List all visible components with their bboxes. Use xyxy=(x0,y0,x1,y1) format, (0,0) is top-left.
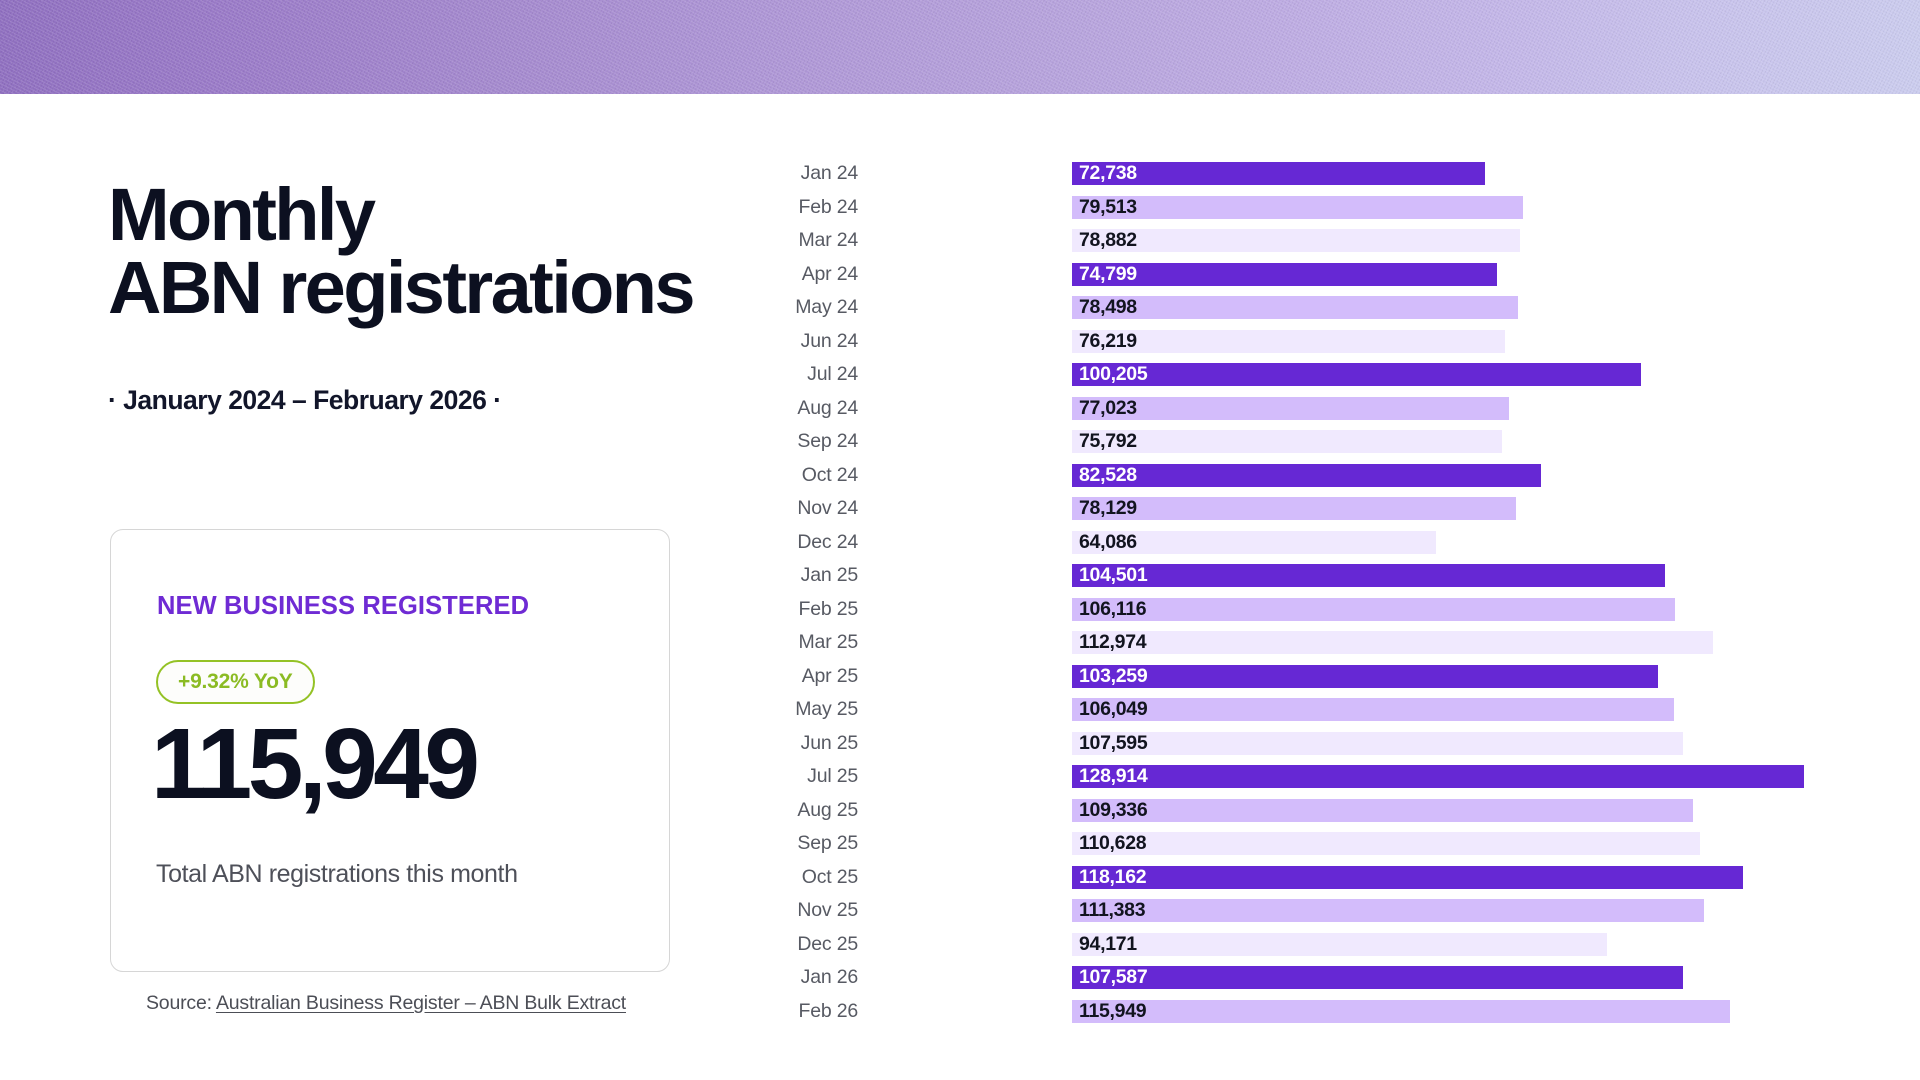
bar-row: Jul 24100,205 xyxy=(0,361,1920,388)
bar-category-label: Jun 24 xyxy=(801,328,858,355)
bar-fill: 107,587 xyxy=(1072,966,1683,989)
bar-category-label: Sep 24 xyxy=(797,428,858,455)
bar-value-label: 94,171 xyxy=(1072,933,1137,956)
bar-track: 110,628 xyxy=(1072,832,1700,855)
bar-track: 64,086 xyxy=(1072,531,1436,554)
bar-row: Jan 26107,587 xyxy=(0,964,1920,991)
bar-row: Jul 25128,914 xyxy=(0,763,1920,790)
bar-fill: 75,792 xyxy=(1072,430,1502,453)
bar-row: Jun 2476,219 xyxy=(0,328,1920,355)
bar-row: Apr 2474,799 xyxy=(0,261,1920,288)
bar-value-label: 107,587 xyxy=(1072,966,1147,989)
bar-value-label: 78,498 xyxy=(1072,296,1137,319)
bar-track: 118,162 xyxy=(1072,866,1743,889)
bar-category-label: Dec 25 xyxy=(797,931,858,958)
bar-value-label: 76,219 xyxy=(1072,330,1137,353)
bar-category-label: Feb 25 xyxy=(798,596,858,623)
bar-fill: 110,628 xyxy=(1072,832,1700,855)
bar-track: 82,528 xyxy=(1072,464,1541,487)
bar-fill: 100,205 xyxy=(1072,363,1641,386)
bar-value-label: 111,383 xyxy=(1072,899,1145,922)
bar-fill: 77,023 xyxy=(1072,397,1509,420)
bar-category-label: Mar 24 xyxy=(799,227,859,254)
bar-track: 128,914 xyxy=(1072,765,1804,788)
bar-row: Mar 2478,882 xyxy=(0,227,1920,254)
bar-track: 79,513 xyxy=(1072,196,1523,219)
bar-value-label: 110,628 xyxy=(1072,832,1146,855)
bar-track: 103,259 xyxy=(1072,665,1658,688)
bar-value-label: 100,205 xyxy=(1072,363,1147,386)
bar-value-label: 106,049 xyxy=(1072,698,1147,721)
bar-track: 74,799 xyxy=(1072,263,1497,286)
bar-category-label: Nov 24 xyxy=(797,495,858,522)
bar-category-label: Aug 25 xyxy=(797,797,858,824)
bar-row: Aug 25109,336 xyxy=(0,797,1920,824)
bar-category-label: Jan 24 xyxy=(801,160,858,187)
bar-row: Dec 2594,171 xyxy=(0,931,1920,958)
bar-value-label: 128,914 xyxy=(1072,765,1147,788)
bar-row: Oct 25118,162 xyxy=(0,864,1920,891)
bar-row: Feb 2479,513 xyxy=(0,194,1920,221)
bar-fill: 76,219 xyxy=(1072,330,1505,353)
bar-value-label: 118,162 xyxy=(1072,866,1146,889)
bar-row: Mar 25112,974 xyxy=(0,629,1920,656)
bar-category-label: May 25 xyxy=(795,696,858,723)
bar-category-label: Mar 25 xyxy=(799,629,859,656)
bar-row: Jun 25107,595 xyxy=(0,730,1920,757)
bar-row: Jan 25104,501 xyxy=(0,562,1920,589)
bar-value-label: 79,513 xyxy=(1072,196,1137,219)
bar-category-label: Sep 25 xyxy=(797,830,858,857)
bar-fill: 106,116 xyxy=(1072,598,1675,621)
bar-row: May 25106,049 xyxy=(0,696,1920,723)
bar-category-label: Feb 26 xyxy=(798,998,858,1025)
bar-row: Nov 2478,129 xyxy=(0,495,1920,522)
bar-value-label: 77,023 xyxy=(1072,397,1137,420)
bar-track: 106,116 xyxy=(1072,598,1675,621)
bar-fill: 115,949 xyxy=(1072,1000,1730,1023)
bar-value-label: 64,086 xyxy=(1072,531,1137,554)
bar-chart: Jan 2472,738Feb 2479,513Mar 2478,882Apr … xyxy=(0,0,1920,1080)
infographic-page: Monthly ABN registrations · January 2024… xyxy=(0,0,1920,1080)
bar-track: 106,049 xyxy=(1072,698,1674,721)
bar-track: 111,383 xyxy=(1072,899,1704,922)
bar-fill: 111,383 xyxy=(1072,899,1704,922)
bar-value-label: 109,336 xyxy=(1072,799,1147,822)
bar-value-label: 82,528 xyxy=(1072,464,1137,487)
bar-track: 78,882 xyxy=(1072,229,1520,252)
bar-fill: 118,162 xyxy=(1072,866,1743,889)
bar-fill: 72,738 xyxy=(1072,162,1485,185)
bar-value-label: 103,259 xyxy=(1072,665,1147,688)
bar-fill: 109,336 xyxy=(1072,799,1693,822)
bar-row: Feb 25106,116 xyxy=(0,596,1920,623)
bar-track: 75,792 xyxy=(1072,430,1502,453)
bar-row: Apr 25103,259 xyxy=(0,663,1920,690)
bar-track: 100,205 xyxy=(1072,363,1641,386)
bar-value-label: 78,129 xyxy=(1072,497,1137,520)
bar-fill: 78,129 xyxy=(1072,497,1516,520)
bar-fill: 78,882 xyxy=(1072,229,1520,252)
bar-category-label: Dec 24 xyxy=(797,529,858,556)
bar-row: Jan 2472,738 xyxy=(0,160,1920,187)
bar-row: Nov 25111,383 xyxy=(0,897,1920,924)
bar-track: 107,587 xyxy=(1072,966,1683,989)
bar-row: Sep 25110,628 xyxy=(0,830,1920,857)
bar-track: 104,501 xyxy=(1072,564,1665,587)
bar-fill: 128,914 xyxy=(1072,765,1804,788)
bar-category-label: Oct 24 xyxy=(802,462,858,489)
bar-category-label: Jan 25 xyxy=(801,562,858,589)
bar-fill: 78,498 xyxy=(1072,296,1518,319)
bar-fill: 82,528 xyxy=(1072,464,1541,487)
bar-fill: 64,086 xyxy=(1072,531,1436,554)
bar-category-label: Oct 25 xyxy=(802,864,858,891)
bar-row: Dec 2464,086 xyxy=(0,529,1920,556)
bar-value-label: 75,792 xyxy=(1072,430,1137,453)
bar-track: 107,595 xyxy=(1072,732,1683,755)
bar-value-label: 112,974 xyxy=(1072,631,1146,654)
bar-value-label: 104,501 xyxy=(1072,564,1147,587)
bar-category-label: May 24 xyxy=(795,294,858,321)
bar-value-label: 78,882 xyxy=(1072,229,1137,252)
bar-category-label: Jan 26 xyxy=(801,964,858,991)
bar-track: 72,738 xyxy=(1072,162,1485,185)
bar-value-label: 74,799 xyxy=(1072,263,1137,286)
bar-value-label: 72,738 xyxy=(1072,162,1137,185)
bar-row: Sep 2475,792 xyxy=(0,428,1920,455)
bar-category-label: Jul 25 xyxy=(807,763,858,790)
bar-row: May 2478,498 xyxy=(0,294,1920,321)
bar-fill: 106,049 xyxy=(1072,698,1674,721)
bar-fill: 74,799 xyxy=(1072,263,1497,286)
bar-track: 94,171 xyxy=(1072,933,1607,956)
bar-fill: 94,171 xyxy=(1072,933,1607,956)
bar-track: 78,129 xyxy=(1072,497,1516,520)
bar-fill: 104,501 xyxy=(1072,564,1665,587)
bar-fill: 112,974 xyxy=(1072,631,1713,654)
bar-category-label: Jul 24 xyxy=(807,361,858,388)
bar-category-label: Apr 24 xyxy=(802,261,858,288)
bar-value-label: 106,116 xyxy=(1072,598,1146,621)
bar-category-label: Aug 24 xyxy=(797,395,858,422)
bar-category-label: Feb 24 xyxy=(798,194,858,221)
bar-fill: 103,259 xyxy=(1072,665,1658,688)
bar-value-label: 115,949 xyxy=(1072,1000,1146,1023)
bar-row: Oct 2482,528 xyxy=(0,462,1920,489)
bar-fill: 79,513 xyxy=(1072,196,1523,219)
bar-track: 78,498 xyxy=(1072,296,1518,319)
bar-track: 115,949 xyxy=(1072,1000,1730,1023)
bar-value-label: 107,595 xyxy=(1072,732,1147,755)
bar-category-label: Nov 25 xyxy=(797,897,858,924)
bar-category-label: Apr 25 xyxy=(802,663,858,690)
bar-track: 109,336 xyxy=(1072,799,1693,822)
bar-track: 112,974 xyxy=(1072,631,1713,654)
bar-row: Feb 26115,949 xyxy=(0,998,1920,1025)
bar-track: 76,219 xyxy=(1072,330,1505,353)
bar-fill: 107,595 xyxy=(1072,732,1683,755)
bar-track: 77,023 xyxy=(1072,397,1509,420)
bar-row: Aug 2477,023 xyxy=(0,395,1920,422)
bar-category-label: Jun 25 xyxy=(801,730,858,757)
